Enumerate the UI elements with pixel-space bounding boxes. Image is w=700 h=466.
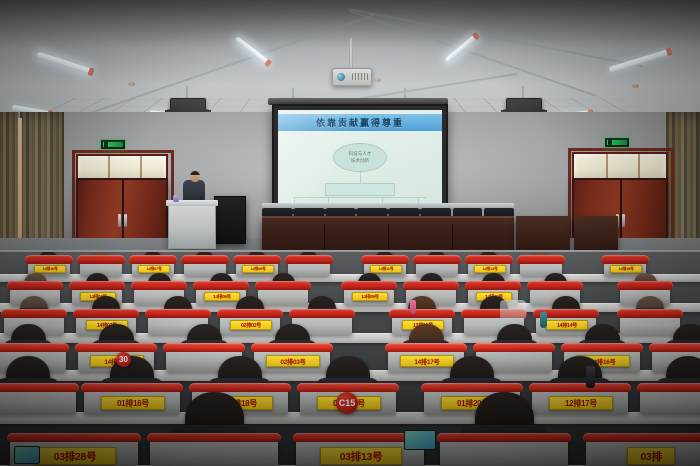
diagram-mid-node <box>325 183 395 196</box>
audience-seating-area: 14排16号14排07号14排09号14排11号14排13号14排15号14排0… <box>0 252 700 466</box>
slide-canvas: 依靠贡献赢得尊重 科技与人才 技术创新 教 育 创新 责任 <box>278 110 442 208</box>
door-handle-icon[interactable] <box>118 214 121 227</box>
cup-on-lectern <box>173 195 179 202</box>
slide-title: 依靠贡献赢得尊重 <box>278 114 442 131</box>
slide-diagram: 科技与人才 技术创新 教 育 创新 责任 <box>278 131 442 208</box>
seat-number-tag: 14排09号 <box>242 265 274 273</box>
exit-sign-right <box>604 137 630 148</box>
seat-number-tag: 14排06号 <box>204 292 240 301</box>
seat-number-tag: 12排17号 <box>549 396 613 410</box>
water-bottle <box>540 312 547 328</box>
marker-30: 30 <box>116 352 131 367</box>
seat-number-tag: 03排13号 <box>320 447 402 465</box>
side-table-right <box>516 216 570 252</box>
seat-number-tag: 14排14号 <box>546 320 588 330</box>
projection-screen: 依靠贡献赢得尊重 科技与人才 技术创新 教 育 创新 责任 <box>272 104 448 214</box>
diagram-connector <box>360 170 361 183</box>
seat-number-tag: 14排13号 <box>474 265 506 273</box>
exit-sign-left <box>100 139 126 150</box>
curtain-left <box>20 112 64 252</box>
diagram-connector <box>294 197 426 198</box>
mobile-phone <box>404 430 436 450</box>
presenter-head <box>190 171 200 182</box>
seat-number-tag: 14排11号 <box>370 265 402 273</box>
seat-number-tag: 02排03号 <box>266 355 320 367</box>
door-handle-icon[interactable] <box>622 214 625 227</box>
diagram-root-line1: 科技与人才 <box>349 151 372 158</box>
exit-person-icon <box>608 140 612 145</box>
auditorium-seat[interactable] <box>288 260 330 276</box>
plastic-bag <box>500 300 526 320</box>
curtain-left-inner <box>0 112 18 254</box>
seat-number-tag: 02排02号 <box>230 320 272 330</box>
auditorium-seat[interactable] <box>150 438 278 466</box>
equipment-rack <box>214 196 246 244</box>
diagram-root-node: 科技与人才 技术创新 <box>333 143 387 172</box>
auditorium-screenshot: 依靠贡献赢得尊重 科技与人才 技术创新 教 育 创新 责任 <box>0 0 700 466</box>
seat-number-tag: 14排08号 <box>352 292 388 301</box>
seat-number-tag: 03排 <box>627 447 675 465</box>
seat-number-tag: 14排15号 <box>610 265 642 273</box>
door-transom-left <box>76 154 168 180</box>
seat-number-tag: 14排17号 <box>400 355 454 367</box>
exit-person-icon <box>104 142 108 147</box>
auditorium-seat[interactable] <box>0 388 76 414</box>
mobile-phone <box>14 446 40 464</box>
auditorium-seat[interactable] <box>620 314 680 335</box>
water-bottle <box>586 366 595 388</box>
door-transom-right <box>572 152 668 180</box>
transom-mullion <box>108 156 110 178</box>
seat-number-tag: 01排16号 <box>101 396 165 410</box>
auditorium-seat[interactable] <box>440 438 568 466</box>
transom-mullion <box>606 154 608 178</box>
side-table-far-right <box>574 216 618 252</box>
auditorium-seat[interactable] <box>640 388 700 414</box>
transom-mullion <box>638 154 640 178</box>
auditorium-seat[interactable] <box>258 286 308 305</box>
water-bottle <box>410 300 416 314</box>
seat-number-tag: 14排07号 <box>138 265 170 273</box>
door-handle-icon[interactable] <box>124 214 127 227</box>
marker-c15: C15 <box>336 392 358 414</box>
transom-mullion <box>140 156 142 178</box>
diagram-root-line2: 技术创新 <box>351 158 369 165</box>
seat-number-tag: 14排16号 <box>34 265 66 273</box>
seat-number-tag: 03排28号 <box>34 447 116 465</box>
lectern <box>168 203 216 249</box>
